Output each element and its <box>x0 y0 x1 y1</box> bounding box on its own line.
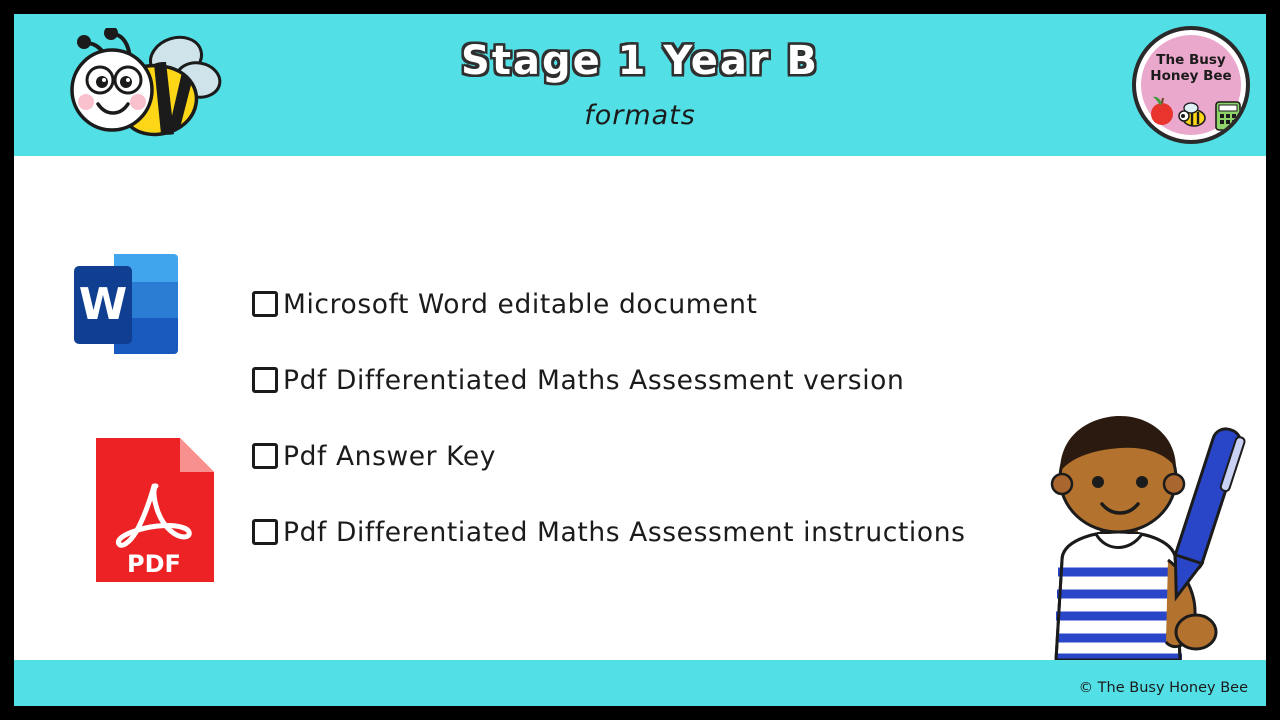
list-item[interactable]: Microsoft Word editable document <box>252 266 1102 342</box>
word-icon-letter: W <box>79 279 128 330</box>
checkbox-pdf-instructions[interactable] <box>252 519 278 545</box>
microsoft-word-icon: W <box>70 248 182 360</box>
list-item[interactable]: Pdf Differentiated Maths Assessment inst… <box>252 494 1102 570</box>
brand-line-2: Honey Bee <box>1136 68 1246 84</box>
list-item-label: Pdf Answer Key <box>283 441 496 472</box>
pdf-icon-label: PDF <box>127 550 181 578</box>
copyright-text: © The Busy Honey Bee <box>1079 680 1248 696</box>
brand-line-1: The Busy <box>1136 52 1246 68</box>
calculator-icon <box>1216 102 1240 130</box>
checkbox-pdf-answer-key[interactable] <box>252 443 278 469</box>
list-item-label: Pdf Differentiated Maths Assessment vers… <box>283 365 904 396</box>
page-subtitle: formats <box>14 100 1266 131</box>
slide-canvas: Stage 1 Year B formats The Busy Honey Be… <box>14 14 1266 706</box>
page-title: Stage 1 Year B <box>14 38 1266 84</box>
brand-badge-text: The Busy Honey Bee <box>1136 52 1246 84</box>
bee-icon <box>1179 103 1205 126</box>
brand-badge-icons <box>1136 94 1246 140</box>
list-item-label: Microsoft Word editable document <box>283 289 758 320</box>
formats-list: Microsoft Word editable document Pdf Dif… <box>252 266 1102 570</box>
pdf-file-icon: PDF <box>88 434 220 586</box>
checkbox-pdf-assessment[interactable] <box>252 367 278 393</box>
list-item[interactable]: Pdf Answer Key <box>252 418 1102 494</box>
checkbox-microsoft-word[interactable] <box>252 291 278 317</box>
slide-header: Stage 1 Year B formats The Busy Honey Be… <box>14 14 1266 156</box>
list-item[interactable]: Pdf Differentiated Maths Assessment vers… <box>252 342 1102 418</box>
list-item-label: Pdf Differentiated Maths Assessment inst… <box>283 517 966 548</box>
brand-badge: The Busy Honey Bee <box>1132 26 1250 144</box>
apple-icon <box>1151 97 1173 125</box>
boy-with-pen-illustration <box>996 410 1256 660</box>
